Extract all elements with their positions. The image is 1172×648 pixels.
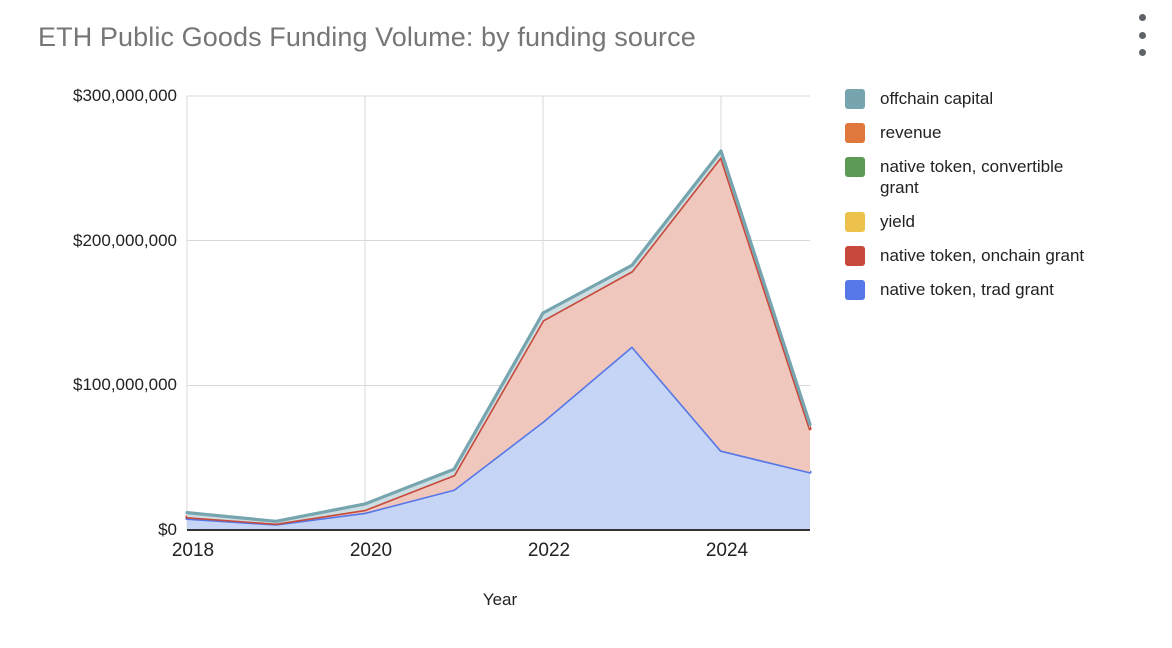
x-axis-tick-label: 2018: [172, 540, 214, 562]
legend-item[interactable]: native token, trad grant: [845, 279, 1165, 300]
series-areas: [187, 151, 810, 530]
chart-legend: offchain capitalrevenuenative token, con…: [845, 88, 1165, 313]
legend-item[interactable]: offchain capital: [845, 88, 1165, 109]
legend-swatch-icon: [845, 212, 865, 232]
legend-swatch-icon: [845, 280, 865, 300]
legend-item[interactable]: yield: [845, 211, 1165, 232]
x-axis-tick-label: 2022: [528, 540, 570, 562]
legend-item[interactable]: native token, convertible grant: [845, 156, 1165, 198]
legend-swatch-icon: [845, 123, 865, 143]
y-axis-tick-label: $100,000,000: [0, 375, 177, 395]
legend-item[interactable]: revenue: [845, 122, 1165, 143]
y-axis-tick-label: $0: [0, 520, 177, 540]
y-axis-tick-label: $300,000,000: [0, 86, 177, 106]
legend-swatch-icon: [845, 89, 865, 109]
y-axis-tick-label: $200,000,000: [0, 231, 177, 251]
legend-item[interactable]: native token, onchain grant: [845, 245, 1165, 266]
legend-swatch-icon: [845, 246, 865, 266]
legend-swatch-icon: [845, 157, 865, 177]
x-axis-tick-label: 2020: [350, 540, 392, 562]
legend-item-label: revenue: [880, 122, 941, 143]
legend-item-label: native token, trad grant: [880, 279, 1054, 300]
chart-card: ETH Public Goods Funding Volume: by fund…: [0, 0, 1172, 648]
x-axis-tick-label: 2024: [706, 540, 748, 562]
x-axis-title: Year: [0, 590, 1000, 610]
legend-item-label: yield: [880, 211, 915, 232]
legend-item-label: offchain capital: [880, 88, 993, 109]
legend-item-label: native token, onchain grant: [880, 245, 1084, 266]
legend-item-label: native token, convertible grant: [880, 156, 1095, 198]
